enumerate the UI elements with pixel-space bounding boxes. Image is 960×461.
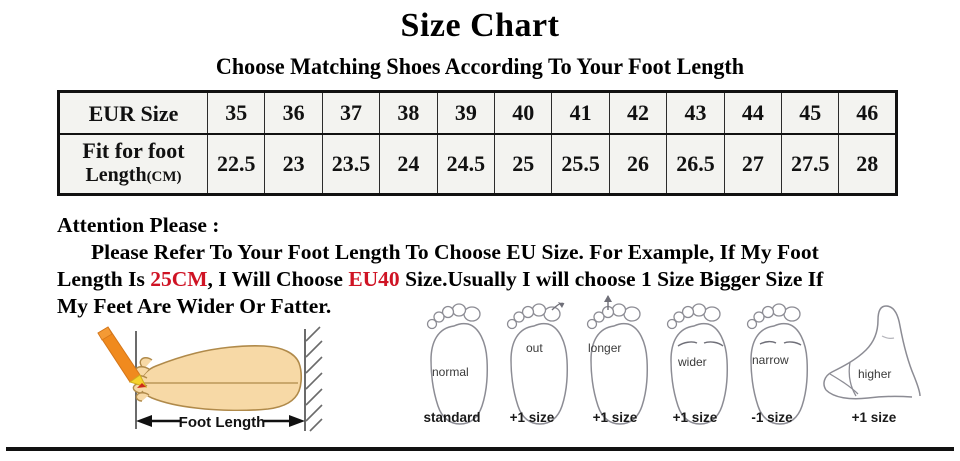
cell-len-41: 25.5 bbox=[552, 134, 609, 195]
foot-type-inner-label-longer: longer bbox=[588, 341, 621, 355]
cell-len-35: 22.5 bbox=[208, 134, 265, 195]
cell-eur-40: 40 bbox=[495, 92, 552, 135]
foot-measure-diagram: Foot Length bbox=[92, 325, 357, 435]
pencil-icon bbox=[98, 327, 146, 388]
foot-type-inner-label-higher: higher bbox=[858, 367, 891, 381]
cell-eur-46: 46 bbox=[839, 92, 897, 135]
foot-type-longer: longer bbox=[588, 295, 648, 424]
row-header-foot-length-line2: Length(CM) bbox=[62, 163, 205, 190]
cell-len-43: 26.5 bbox=[667, 134, 724, 195]
table-row-eur-size: EUR Size 35 36 37 38 39 40 41 42 43 44 4… bbox=[59, 92, 897, 135]
foot-type-inner-label-wider: wider bbox=[677, 355, 707, 369]
cell-len-37: 23.5 bbox=[322, 134, 379, 195]
foot-length-label: Foot Length bbox=[179, 414, 266, 431]
cell-eur-36: 36 bbox=[265, 92, 322, 135]
foot-type-diagrams: normal out longer wider narrow higher st… bbox=[412, 292, 942, 432]
page-subtitle: Choose Matching Shoes According To Your … bbox=[19, 53, 941, 81]
cell-eur-38: 38 bbox=[380, 92, 437, 135]
cell-eur-43: 43 bbox=[667, 92, 724, 135]
foot-type-normal: normal bbox=[428, 304, 488, 424]
highlight-eu-size: EU40 bbox=[348, 267, 399, 291]
cell-len-44: 27 bbox=[724, 134, 781, 195]
foot-type-inner-label-normal: normal bbox=[432, 365, 469, 379]
foot-type-inner-label-out: out bbox=[526, 341, 543, 355]
cell-len-39: 24.5 bbox=[437, 134, 494, 195]
page-title: Size Chart bbox=[0, 6, 960, 46]
cell-eur-35: 35 bbox=[208, 92, 265, 135]
foot-type-caption-longer: +1 size bbox=[593, 410, 638, 425]
attention-line-2-b: , I Will Choose bbox=[208, 267, 349, 291]
row-header-unit: (CM) bbox=[147, 169, 182, 185]
cell-eur-41: 41 bbox=[552, 92, 609, 135]
attention-line-2-a: Length Is bbox=[57, 267, 150, 291]
foot-type-wider: wider bbox=[668, 304, 728, 424]
foot-type-inner-label-narrow: narrow bbox=[752, 353, 789, 367]
foot-type-caption-higher: +1 size bbox=[852, 410, 897, 425]
attention-heading: Attention Please : bbox=[57, 212, 917, 239]
cell-eur-44: 44 bbox=[724, 92, 781, 135]
row-header-eur-size: EUR Size bbox=[59, 92, 208, 135]
wall-hatching-icon bbox=[306, 327, 322, 431]
cell-len-38: 24 bbox=[380, 134, 437, 195]
bottom-divider bbox=[6, 447, 954, 451]
foot-type-caption-out: +1 size bbox=[510, 410, 555, 425]
foot-type-caption-wider: +1 size bbox=[673, 410, 718, 425]
highlight-foot-length: 25CM bbox=[150, 267, 207, 291]
cell-eur-37: 37 bbox=[322, 92, 379, 135]
attention-line-2-c: Size.Usually I will choose 1 Size Bigger… bbox=[400, 267, 824, 291]
attention-line-2: Length Is 25CM, I Will Choose EU40 Size.… bbox=[57, 266, 917, 293]
foot-type-narrow: narrow bbox=[748, 304, 808, 424]
foot-type-caption-narrow: -1 size bbox=[751, 410, 793, 425]
foot-type-higher: higher bbox=[824, 306, 920, 399]
cell-eur-42: 42 bbox=[609, 92, 666, 135]
attention-line-1: Please Refer To Your Foot Length To Choo… bbox=[57, 239, 917, 266]
table-row-foot-length: Fit for foot Length(CM) 22.5 23 23.5 24 … bbox=[59, 134, 897, 195]
cell-len-42: 26 bbox=[609, 134, 666, 195]
cell-len-46: 28 bbox=[839, 134, 897, 195]
cell-eur-45: 45 bbox=[782, 92, 839, 135]
size-chart-table: EUR Size 35 36 37 38 39 40 41 42 43 44 4… bbox=[57, 90, 898, 196]
foot-type-out: out bbox=[508, 302, 568, 424]
cell-eur-39: 39 bbox=[437, 92, 494, 135]
cell-len-40: 25 bbox=[495, 134, 552, 195]
cell-len-36: 23 bbox=[265, 134, 322, 195]
attention-line-1-text: Please Refer To Your Foot Length To Choo… bbox=[91, 240, 819, 264]
row-header-foot-length: Fit for foot Length(CM) bbox=[59, 134, 208, 195]
foot-outline-icon bbox=[133, 346, 301, 411]
row-header-foot-length-line1: Fit for foot bbox=[62, 138, 205, 163]
foot-type-caption-standard: standard bbox=[423, 410, 480, 425]
cell-len-45: 27.5 bbox=[782, 134, 839, 195]
